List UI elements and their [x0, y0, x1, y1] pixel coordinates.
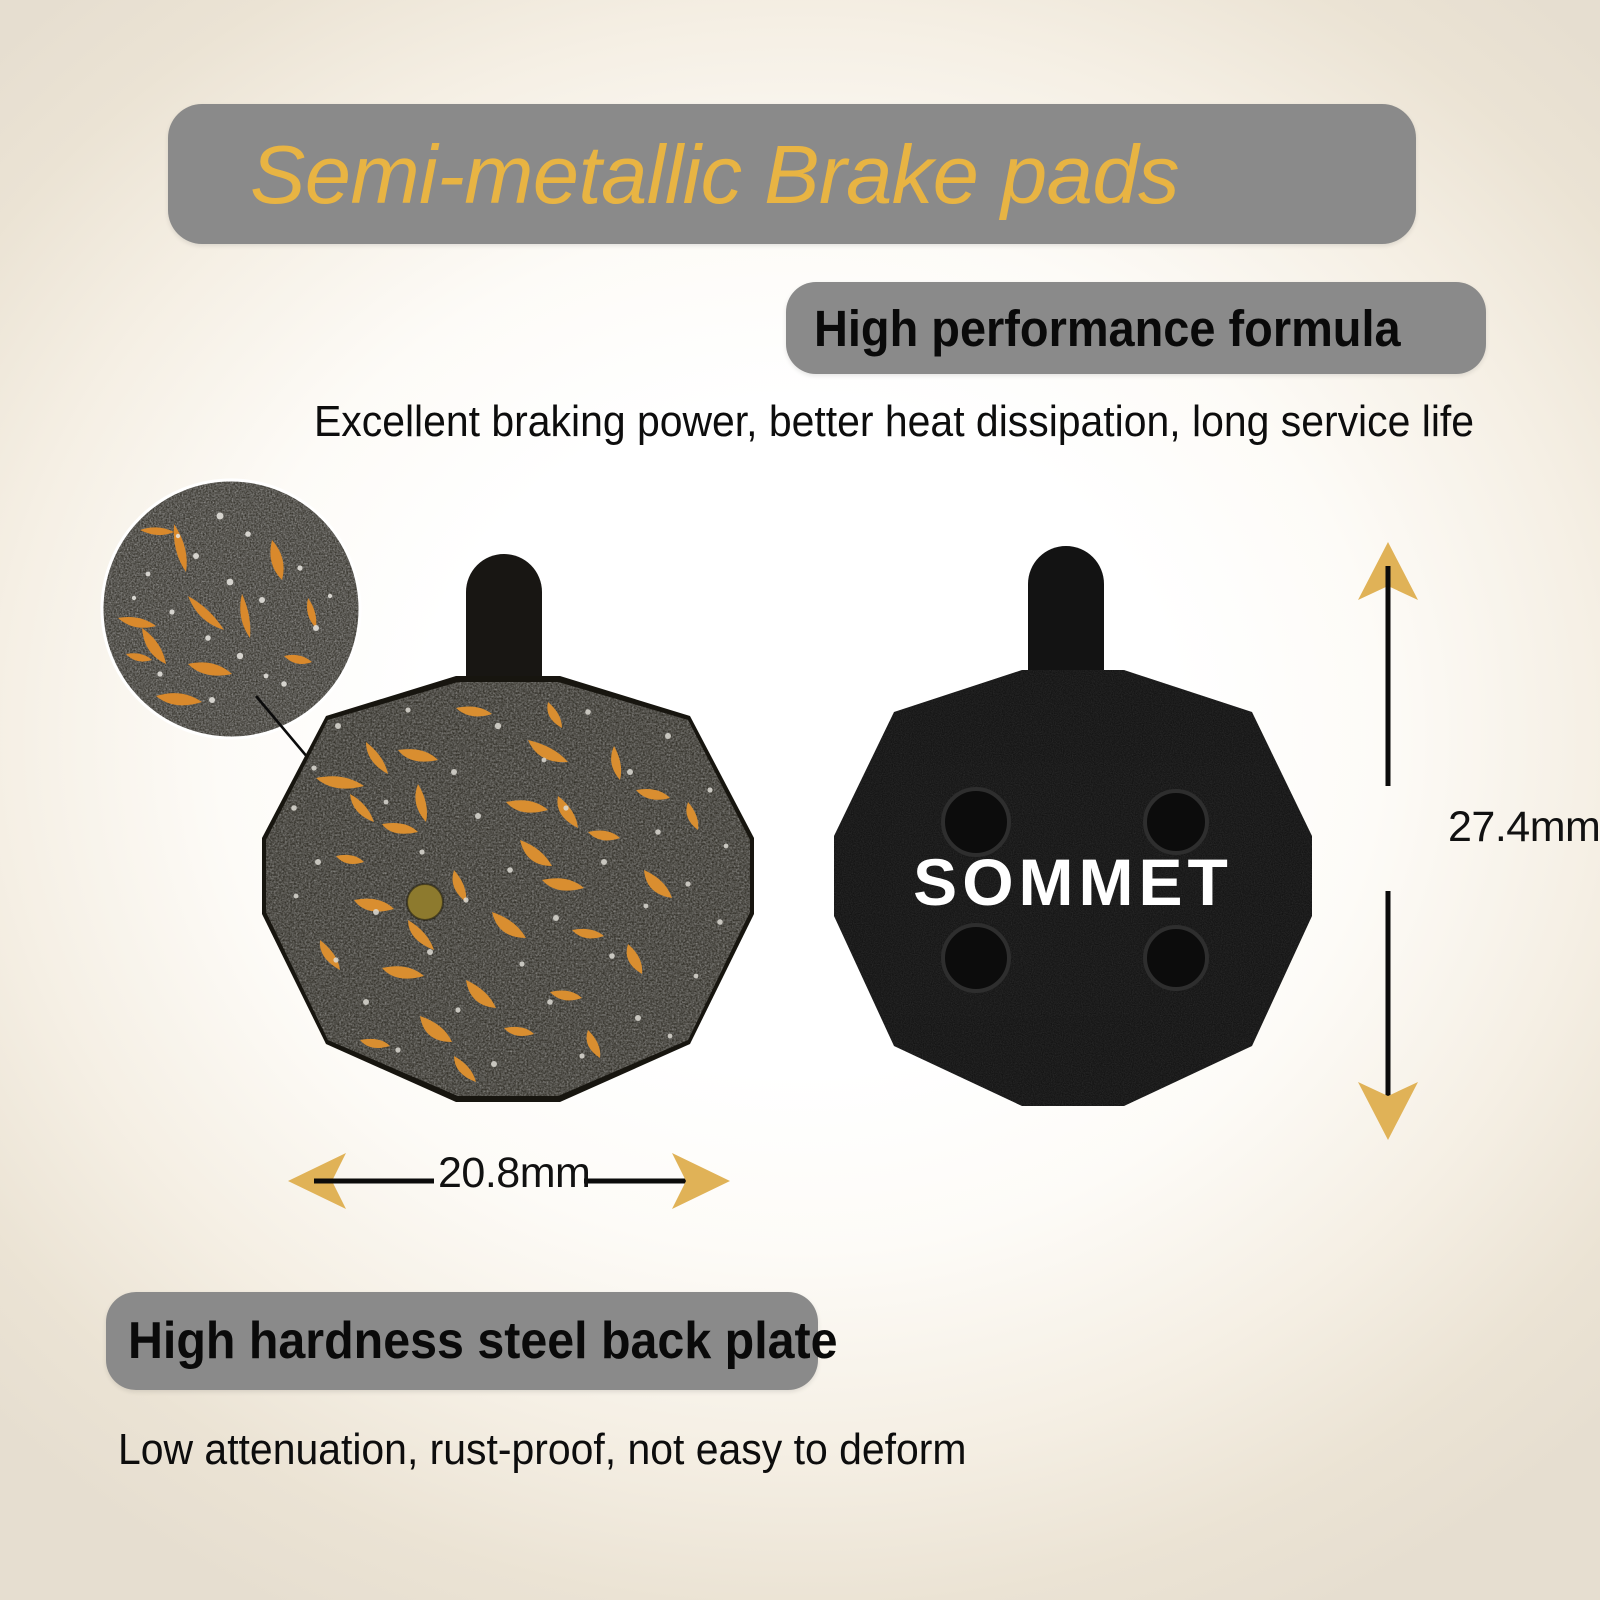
page-title: Semi-metallic Brake pads — [250, 133, 1179, 216]
dimension-height-label: 27.4mm — [1448, 806, 1600, 849]
feature-heading-performance-label: High performance formula — [814, 303, 1401, 354]
feature-description-backplate: Low attenuation, rust-proof, not easy to… — [118, 1424, 966, 1477]
feature-heading-backplate-label: High hardness steel back plate — [128, 1315, 838, 1367]
dimension-height-arrow — [1338, 536, 1448, 1146]
brand-logo-text: SOMMET — [913, 845, 1233, 919]
dimension-width-label: 20.8mm — [438, 1152, 590, 1195]
feature-description-performance: Excellent braking power, better heat dis… — [314, 396, 1474, 449]
feature-heading-backplate: High hardness steel back plate — [106, 1292, 818, 1390]
steel-back-plate: SOMMET — [828, 540, 1318, 1160]
title-banner: Semi-metallic Brake pads — [168, 104, 1416, 244]
friction-pad-front — [258, 540, 758, 1160]
feature-heading-performance: High performance formula — [786, 282, 1486, 374]
infographic-canvas: Semi-metallic Brake pads High performanc… — [0, 0, 1600, 1600]
